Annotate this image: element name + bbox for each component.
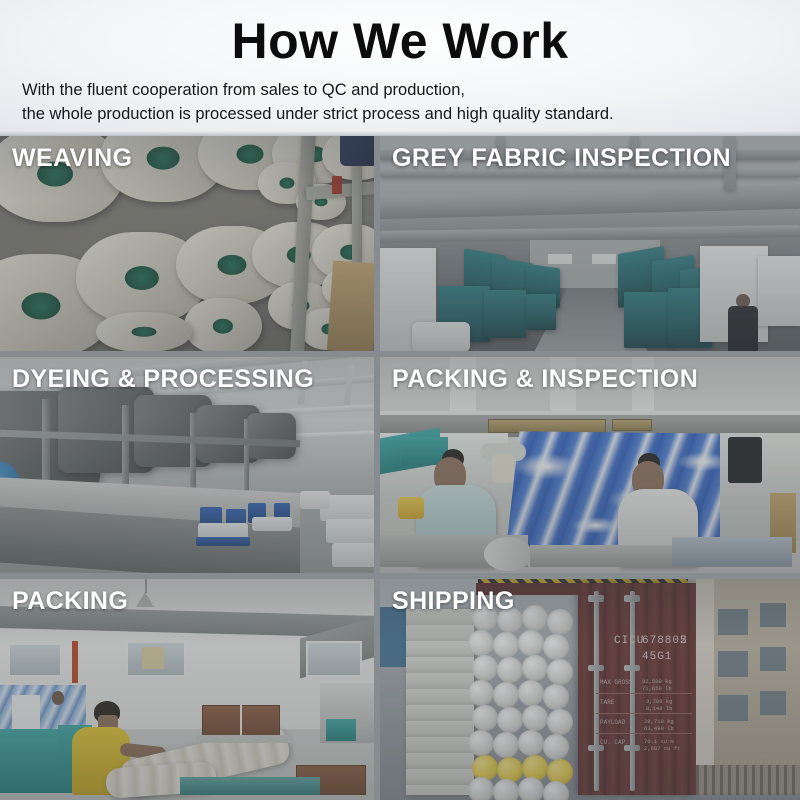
page-header: How We Work With the fluent cooperation … — [0, 0, 800, 136]
page-title: How We Work — [0, 0, 800, 66]
panel-label-grey-fabric-inspection: GREY FABRIC INSPECTION — [392, 144, 731, 173]
panel-weaving[interactable]: WEAVING — [0, 136, 380, 357]
panel-packing-inspection[interactable]: PACKING & INSPECTION — [380, 357, 800, 578]
panel-label-shipping: SHIPPING — [392, 587, 515, 616]
panel-label-weaving: WEAVING — [12, 144, 132, 173]
panel-packing[interactable]: PACKING — [0, 579, 380, 800]
panel-grey-fabric-inspection[interactable]: GREY FABRIC INSPECTION — [380, 136, 800, 357]
panel-label-dyeing-processing: DYEING & PROCESSING — [12, 365, 314, 394]
panel-dyeing-processing[interactable]: DYEING & PROCESSING — [0, 357, 380, 578]
subtitle-line-1: With the fluent cooperation from sales t… — [22, 78, 800, 102]
how-we-work-page: How We Work With the fluent cooperation … — [0, 0, 800, 800]
process-grid: WEAVING — [0, 136, 800, 800]
panel-label-packing-inspection: PACKING & INSPECTION — [392, 365, 698, 394]
panel-label-packing: PACKING — [12, 587, 128, 616]
page-subtitle: With the fluent cooperation from sales t… — [0, 78, 800, 126]
subtitle-line-2: the whole production is processed under … — [22, 102, 800, 126]
panel-shipping[interactable]: CICU 678802 5 45G1 MAX GROSS 32,500 kg 7… — [380, 579, 800, 800]
